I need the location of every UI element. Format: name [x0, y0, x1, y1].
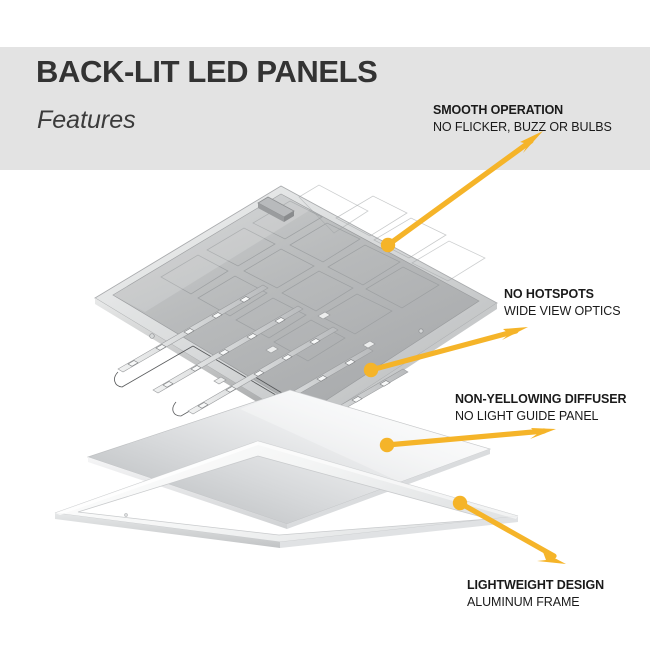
page-subtitle: Features: [37, 107, 136, 133]
callout-title: NON-YELLOWING DIFFUSER: [455, 392, 626, 408]
page-title: BACK-LIT LED PANELS: [36, 56, 377, 89]
callout-smooth-operation: SMOOTH OPERATION NO FLICKER, BUZZ OR BUL…: [433, 103, 612, 135]
callout-subtitle: NO LIGHT GUIDE PANEL: [455, 408, 626, 424]
product-illustration: [0, 0, 650, 650]
callout-no-hotspots: NO HOTSPOTS WIDE VIEW OPTICS: [504, 287, 620, 319]
callout-title: LIGHTWEIGHT DESIGN: [467, 578, 604, 594]
callout-subtitle: ALUMINUM FRAME: [467, 594, 604, 610]
callout-title: SMOOTH OPERATION: [433, 103, 612, 119]
callout-non-yellowing-diffuser: NON-YELLOWING DIFFUSER NO LIGHT GUIDE PA…: [455, 392, 626, 424]
infographic-page: BACK-LIT LED PANELS Features: [0, 0, 650, 650]
callout-lightweight-design: LIGHTWEIGHT DESIGN ALUMINUM FRAME: [467, 578, 604, 610]
callout-title: NO HOTSPOTS: [504, 287, 620, 303]
callout-subtitle: NO FLICKER, BUZZ OR BULBS: [433, 119, 612, 135]
callout-subtitle: WIDE VIEW OPTICS: [504, 303, 620, 319]
